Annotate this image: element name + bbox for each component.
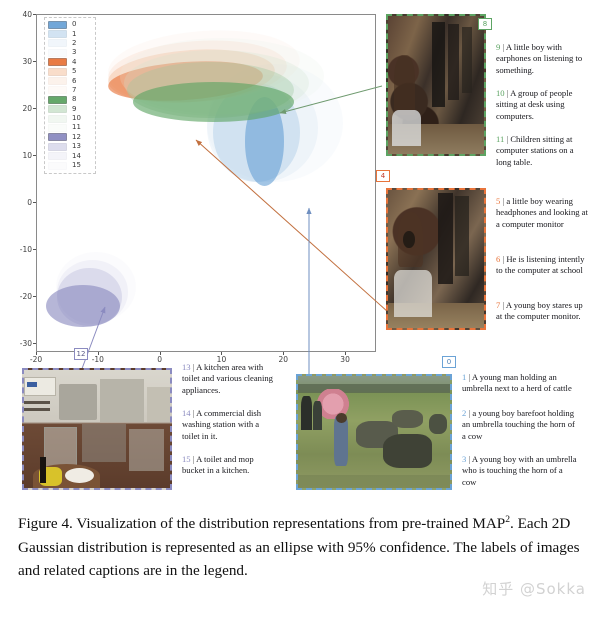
caption-green-11: 11 | Children sitting at computer statio… (496, 134, 588, 168)
panel-tag-purple: 12 (74, 348, 88, 360)
arrow-orange (196, 140, 388, 312)
photo-orange-boy-monitor (386, 188, 486, 330)
arrow-green (280, 86, 382, 113)
panel-tag-blue: 0 (442, 356, 456, 368)
caption-blue-2: 2 | a young boy barefoot holding an umbr… (462, 408, 578, 442)
photo-green-classroom (386, 14, 486, 156)
caption-orange-6: 6 | He is listening intently to the comp… (496, 254, 588, 277)
arrow-purple (80, 307, 105, 374)
caption-purple-14: 14 | A commercial dish washing station w… (182, 408, 278, 442)
caption-blue-1: 1 | A young man holding an umbrella next… (462, 372, 578, 395)
caption-green-9: 9 | A little boy with earphones on liste… (496, 42, 588, 76)
figure-caption-prefix: Figure 4. (18, 515, 73, 532)
caption-orange-7: 7 | A young boy stares up at the compute… (496, 300, 588, 323)
watermark: 知乎 @Sokka (482, 578, 586, 599)
figure-caption: Figure 4. Visualization of the distribut… (18, 508, 584, 583)
caption-blue-3: 3 | A young boy with an umbrella who is … (462, 454, 578, 488)
figure-panel: 403020100-10-20-30-20-100102030 01234567… (0, 0, 600, 500)
caption-orange-5: 5 | a little boy wearing headphones and … (496, 196, 588, 230)
caption-purple-13: 13 | A kitchen area with toilet and vari… (182, 362, 278, 396)
caption-purple-15: 15 | A toilet and mop bucket in a kitche… (182, 454, 278, 477)
panel-tag-orange: 4 (376, 170, 390, 182)
photo-blue-cattle (296, 374, 452, 490)
photo-purple-kitchen (22, 368, 172, 490)
figure-caption-text1: Visualization of the distribution repres… (73, 515, 505, 532)
caption-green-10: 10 | A group of people sitting at desk u… (496, 88, 588, 122)
panel-tag-green: 8 (478, 18, 492, 30)
